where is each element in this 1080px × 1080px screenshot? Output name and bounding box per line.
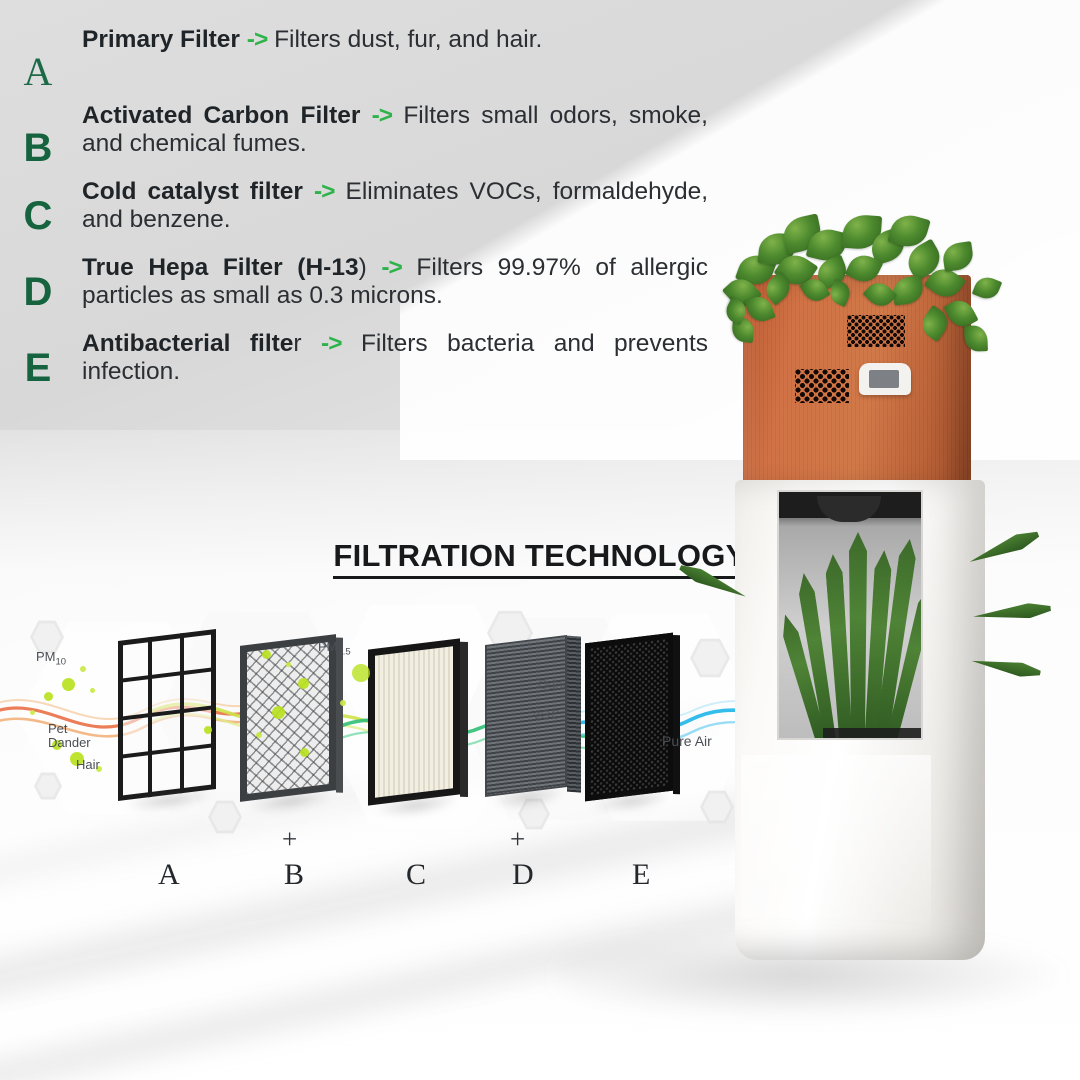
stage-label-b: B xyxy=(284,858,304,892)
bullet-bold-c: Cold catalyst filter xyxy=(82,178,303,205)
bullet-letter-e: E xyxy=(12,348,64,388)
bullet-bold-a: Primary Filter xyxy=(82,26,240,53)
plus-sign-1: + xyxy=(282,824,297,855)
window-dome-vent xyxy=(817,496,881,522)
list-item: C Cold catalyst filter -> Eliminates VOC… xyxy=(0,178,730,240)
stage-label-e: E xyxy=(632,858,650,892)
device-base-highlight xyxy=(741,755,931,945)
pothos-plant xyxy=(725,215,1005,415)
bullet-letter-d: D xyxy=(12,272,64,312)
list-item: E Antibacterial filter -> Filters bacter… xyxy=(0,330,730,392)
arrow-icon: -> xyxy=(314,178,334,205)
filter-stage-b xyxy=(240,634,336,802)
filter-stage-e xyxy=(585,633,673,802)
bullet-text-b: Activated Carbon Filter -> Filters small… xyxy=(82,102,708,159)
list-item: B Activated Carbon Filter -> Filters sma… xyxy=(0,102,730,164)
infographic-canvas: A Primary Filter -> Filters dust, fur, a… xyxy=(0,0,1080,1080)
arrow-icon: -> xyxy=(381,254,401,281)
arrow-icon: -> xyxy=(321,330,341,357)
bullet-bold-tail-e: r xyxy=(293,330,301,357)
bullet-text-c: Cold catalyst filter -> Eliminates VOCs,… xyxy=(82,178,708,235)
arrow-icon: -> xyxy=(247,26,267,53)
label-pure-air: Pure Air xyxy=(662,734,712,749)
label-voc: VOC xyxy=(532,708,560,722)
bullet-bold-tail-d: ) xyxy=(359,254,367,281)
bullet-text-e: Antibacterial filter -> Filters bacteria… xyxy=(82,330,708,387)
list-item: D True Hepa Filter (H-13) -> Filters 99.… xyxy=(0,254,730,316)
bullet-bold-d: True Hepa Filter (H-13 xyxy=(82,254,359,281)
stage-label-a: A xyxy=(158,858,180,892)
bullet-letter-a: A xyxy=(12,52,64,92)
list-item: A Primary Filter -> Filters dust, fur, a… xyxy=(0,26,730,88)
filter-description-list: A Primary Filter -> Filters dust, fur, a… xyxy=(0,26,730,406)
label-odor: Odor xyxy=(538,678,567,692)
filter-b-mesh xyxy=(240,634,336,802)
plant-pot xyxy=(823,728,923,740)
device-body xyxy=(735,480,985,960)
device-plant-window xyxy=(777,490,923,740)
stage-label-d: D xyxy=(512,858,534,892)
filter-stage-c xyxy=(368,638,460,805)
diagram-stage-labels: A + B C + D E xyxy=(0,840,740,900)
label-pm25: PM2.5 xyxy=(318,640,351,658)
filter-c-hepa xyxy=(368,638,460,805)
arrow-icon: -> xyxy=(372,102,392,129)
label-pet-dander: Pet Dander xyxy=(48,722,91,751)
device-floor-shadow xyxy=(560,930,1080,1020)
bullet-letter-c: C xyxy=(12,196,64,236)
bullet-bold-e: Antibacterial filte xyxy=(82,330,293,357)
bullet-text-d: True Hepa Filter (H-13) -> Filters 99.97… xyxy=(82,254,708,311)
label-hair: Hair xyxy=(76,758,100,772)
bullet-text-a: Primary Filter -> Filters dust, fur, and… xyxy=(82,26,708,54)
filter-stage-a xyxy=(118,629,216,801)
air-purifier-device xyxy=(735,275,985,965)
filter-e-carbon xyxy=(585,633,673,802)
bullet-rest-a: Filters dust, fur, and hair. xyxy=(274,26,542,53)
bullet-bold-b: Activated Carbon Filter xyxy=(82,102,360,129)
bullet-letter-b: B xyxy=(12,128,64,168)
plus-sign-2: + xyxy=(510,824,525,855)
label-pm10: PM10 xyxy=(36,650,66,668)
stage-label-c: C xyxy=(406,858,426,892)
